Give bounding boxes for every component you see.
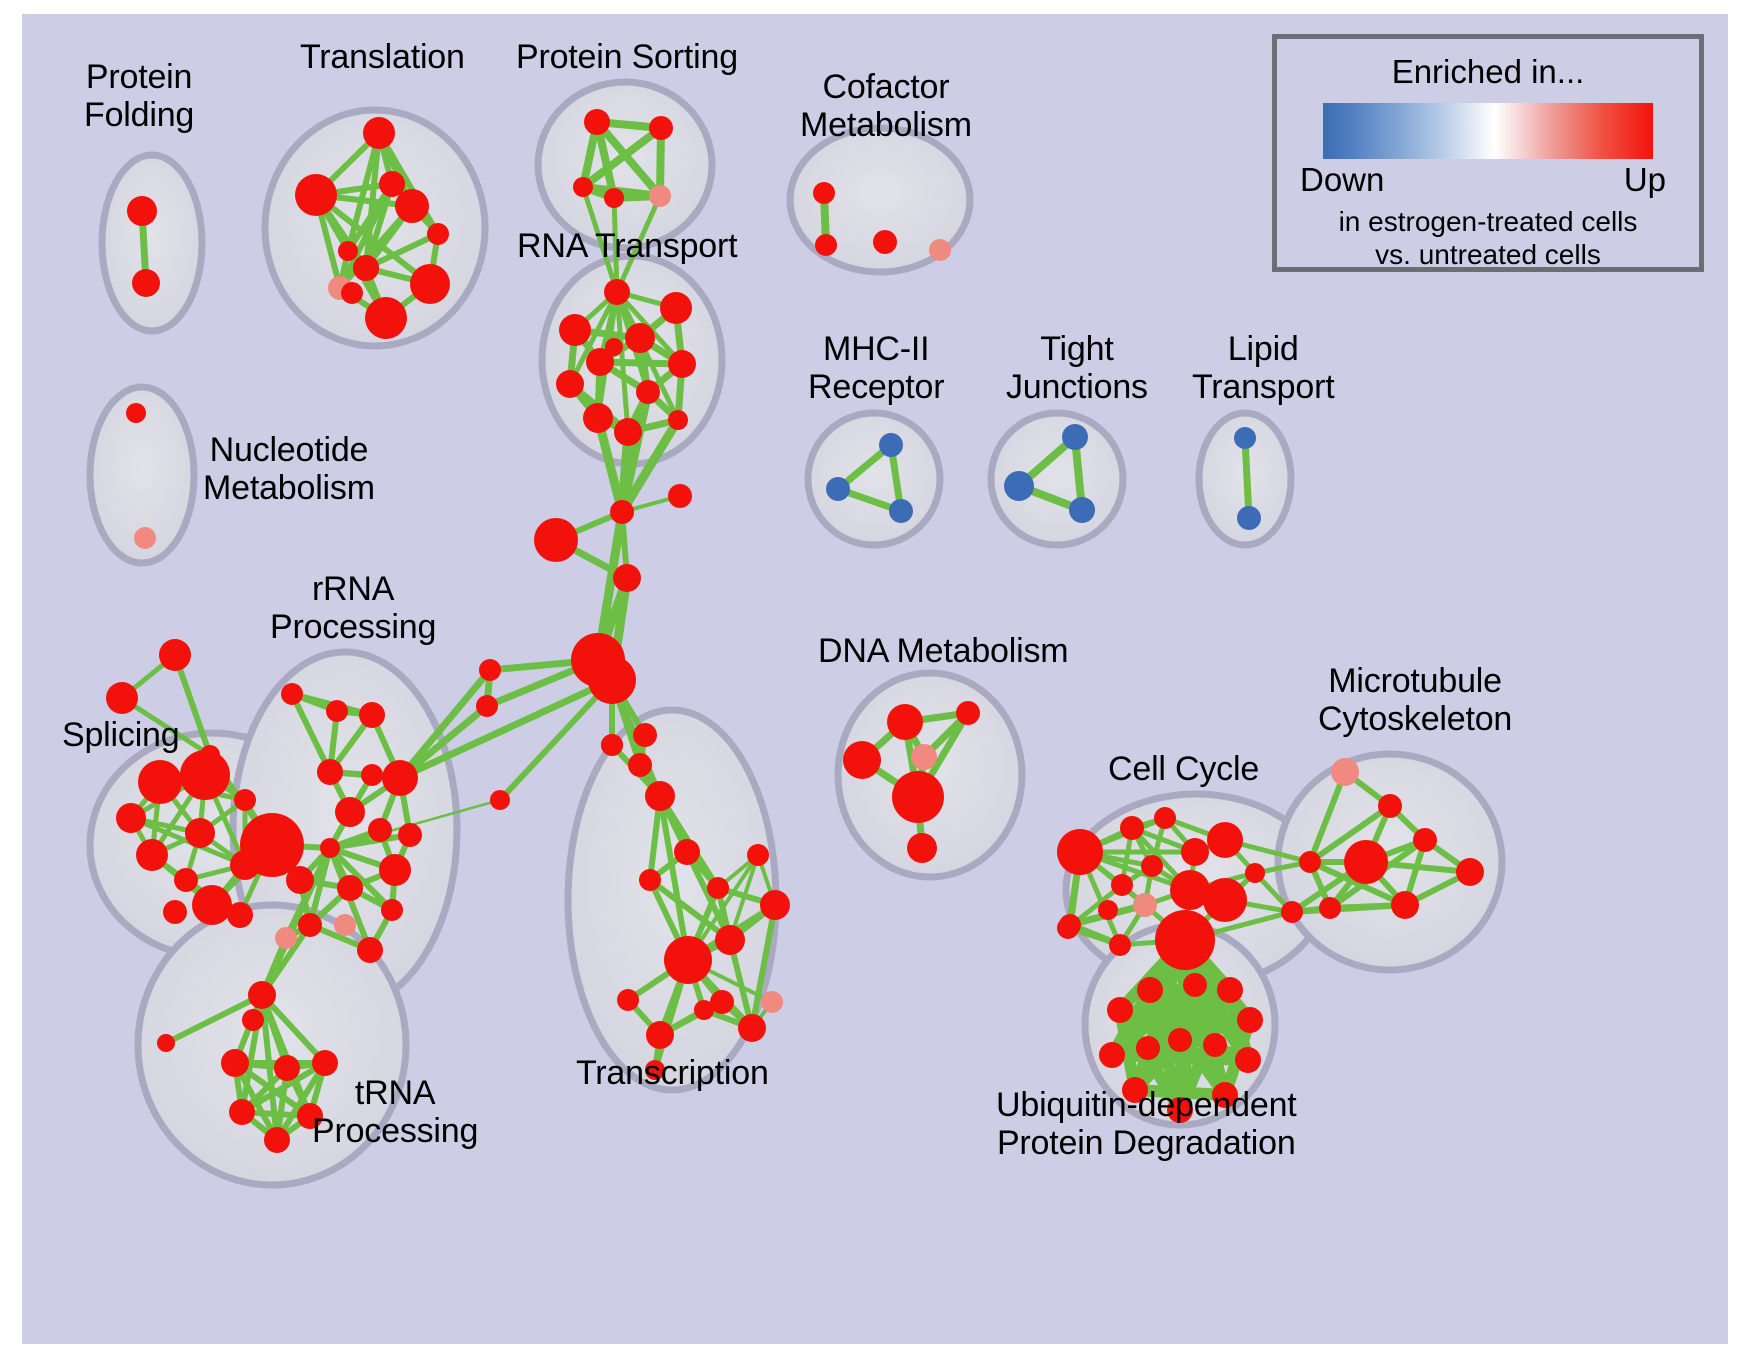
node	[1331, 758, 1359, 786]
node	[180, 750, 230, 800]
cluster-label-translation: Translation	[300, 38, 465, 76]
node	[911, 744, 937, 770]
node	[1057, 917, 1079, 939]
node	[363, 117, 395, 149]
node	[398, 823, 422, 847]
node	[1456, 858, 1484, 886]
node	[163, 900, 187, 924]
node	[1237, 1007, 1263, 1033]
node	[274, 1055, 300, 1081]
cluster-label-tight-junctions: Tight Junctions	[1006, 330, 1148, 406]
node	[907, 833, 937, 863]
node	[747, 844, 769, 866]
cluster-label-dna-metabolism: DNA Metabolism	[818, 632, 1068, 670]
node	[476, 695, 498, 717]
node	[1098, 900, 1118, 920]
node	[1299, 851, 1321, 873]
node	[1234, 427, 1256, 449]
node	[1057, 829, 1103, 875]
node	[295, 174, 337, 216]
node	[633, 723, 657, 747]
node	[604, 279, 630, 305]
node	[234, 789, 256, 811]
node	[843, 741, 881, 779]
node	[879, 433, 903, 457]
legend-panel: Enriched in... Down Up in estrogen-treat…	[1272, 34, 1704, 272]
node	[617, 989, 639, 1011]
node	[1217, 977, 1243, 1003]
node	[710, 990, 734, 1014]
node	[534, 518, 578, 562]
node	[248, 981, 276, 1009]
node	[134, 527, 156, 549]
node	[427, 223, 449, 245]
node	[359, 702, 385, 728]
node	[1203, 878, 1247, 922]
node	[760, 890, 790, 920]
node	[1137, 977, 1163, 1003]
node	[174, 868, 198, 892]
node	[1120, 816, 1144, 840]
node	[826, 477, 850, 501]
node	[707, 877, 729, 899]
cluster-label-microtubule: Microtubule Cytoskeleton	[1318, 662, 1512, 738]
node	[674, 839, 700, 865]
node	[614, 418, 642, 446]
node	[281, 683, 303, 705]
node	[573, 177, 593, 197]
node	[929, 239, 951, 261]
node	[1107, 997, 1133, 1023]
node	[1155, 910, 1215, 970]
node	[1183, 973, 1207, 997]
node	[365, 297, 407, 339]
node	[312, 1050, 338, 1076]
node	[229, 1099, 255, 1125]
node	[227, 902, 253, 928]
node	[159, 639, 191, 671]
node	[382, 760, 418, 796]
node	[956, 701, 980, 725]
node	[1099, 1042, 1125, 1068]
node	[668, 484, 692, 508]
node	[410, 264, 450, 304]
node	[738, 1014, 766, 1042]
node	[613, 564, 641, 592]
node	[605, 338, 623, 356]
cluster-label-protein-folding: Protein Folding	[84, 58, 194, 134]
node	[649, 185, 671, 207]
legend-endpoint-labels: Down Up	[1300, 161, 1676, 201]
cluster-label-ubiquitin: Ubiquitin-dependent Protein Degradation	[996, 1086, 1297, 1162]
node	[1245, 863, 1265, 883]
node	[357, 937, 383, 963]
node	[1344, 840, 1388, 884]
cluster-label-cofactor-metabolism: Cofactor Metabolism	[800, 68, 972, 144]
cluster-label-splicing: Splicing	[62, 716, 179, 754]
cluster-label-mhc-ii-receptor: MHC-II Receptor	[808, 330, 944, 406]
node	[1141, 855, 1163, 877]
node	[1111, 874, 1133, 896]
node	[326, 700, 348, 722]
node	[298, 913, 322, 937]
node	[660, 292, 692, 324]
node	[106, 682, 138, 714]
node	[639, 869, 661, 891]
node	[668, 350, 696, 378]
node	[1133, 893, 1157, 917]
node	[361, 764, 383, 786]
node	[1413, 828, 1437, 852]
cluster-label-cell-cycle: Cell Cycle	[1108, 750, 1259, 788]
legend-title: Enriched in...	[1277, 53, 1699, 91]
node	[601, 734, 623, 756]
node	[1235, 1047, 1261, 1073]
node	[1154, 807, 1176, 829]
node	[275, 927, 297, 949]
cluster-label-rna-transport: RNA Transport	[517, 227, 737, 265]
node	[116, 803, 146, 833]
cluster-label-rrna-processing: rRNA Processing	[270, 570, 436, 646]
cluster-label-nucleotide-metabolism: Nucleotide Metabolism	[203, 431, 375, 507]
node	[353, 255, 379, 281]
cluster-label-trna-processing: tRNA Processing	[312, 1074, 478, 1150]
cluster-label-lipid-transport: Lipid Transport	[1192, 330, 1334, 406]
node	[645, 781, 675, 811]
node	[490, 790, 510, 810]
node	[664, 936, 712, 984]
node	[636, 380, 660, 404]
node	[813, 182, 835, 204]
node	[1281, 901, 1303, 923]
node	[628, 753, 652, 777]
node	[761, 991, 783, 1013]
node	[320, 838, 340, 858]
node	[1319, 897, 1341, 919]
node	[1391, 891, 1419, 919]
node	[395, 189, 429, 223]
node	[335, 797, 365, 827]
legend-up-label: Up	[1624, 161, 1666, 199]
node	[334, 914, 356, 936]
node	[1181, 838, 1209, 866]
legend-subtitle-line-1: in estrogen-treated cells	[1277, 205, 1699, 238]
node	[815, 234, 837, 256]
node	[649, 116, 673, 140]
node	[368, 818, 392, 842]
node	[646, 1021, 674, 1049]
node	[157, 1034, 175, 1052]
node	[1237, 506, 1261, 530]
node	[379, 854, 411, 886]
node	[264, 1127, 290, 1153]
node	[381, 899, 403, 921]
node	[873, 230, 897, 254]
cluster-label-protein-sorting: Protein Sorting	[516, 38, 738, 76]
node	[127, 196, 157, 226]
legend-subtitle: in estrogen-treated cells vs. untreated …	[1277, 205, 1699, 271]
node	[317, 759, 343, 785]
node	[192, 885, 232, 925]
node	[185, 818, 215, 848]
node	[887, 704, 923, 740]
hull-protein-folding	[102, 155, 202, 331]
node	[610, 500, 634, 524]
node	[668, 410, 688, 430]
node	[584, 109, 610, 135]
node	[132, 269, 160, 297]
hull-protein-sorting	[538, 82, 712, 248]
node	[479, 659, 501, 681]
node	[341, 282, 363, 304]
node	[1069, 497, 1095, 523]
legend-down-label: Down	[1300, 161, 1384, 199]
node	[138, 760, 182, 804]
node	[221, 1049, 249, 1077]
node	[588, 656, 636, 704]
node	[1207, 822, 1243, 858]
node	[559, 314, 591, 346]
hull-mhc-ii-receptor	[808, 413, 940, 545]
legend-subtitle-line-2: vs. untreated cells	[1277, 238, 1699, 271]
node	[583, 403, 613, 433]
node	[1004, 471, 1034, 501]
node	[556, 370, 584, 398]
node	[126, 403, 146, 423]
legend-color-gradient-bar	[1323, 103, 1653, 159]
node	[1136, 1036, 1160, 1060]
node	[892, 771, 944, 823]
node	[1378, 794, 1402, 818]
node	[889, 499, 913, 523]
node	[286, 866, 314, 894]
cluster-label-transcription: Transcription	[576, 1054, 769, 1092]
node	[1109, 934, 1131, 956]
node	[604, 188, 624, 208]
node	[715, 925, 745, 955]
node	[1062, 424, 1088, 450]
node	[1168, 1028, 1192, 1052]
node	[1203, 1033, 1227, 1057]
node	[337, 875, 363, 901]
node	[625, 323, 655, 353]
node	[242, 1009, 264, 1031]
node	[136, 839, 168, 871]
figure-canvas: Protein Folding Translation Protein Sort…	[0, 0, 1750, 1360]
node	[338, 241, 358, 261]
